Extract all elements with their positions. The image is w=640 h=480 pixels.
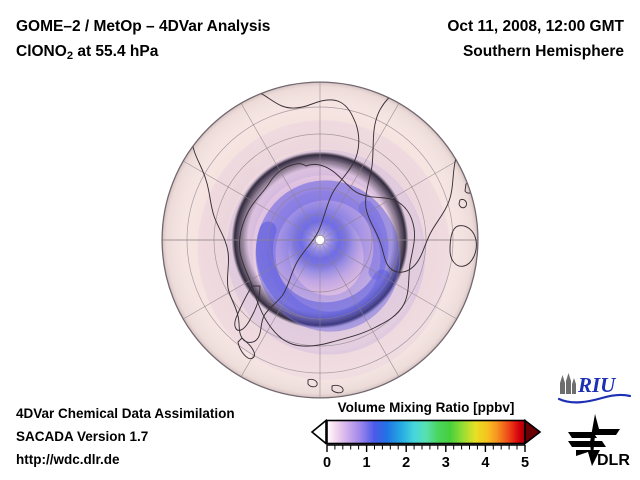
colorbar-title: Volume Mixing Ratio [ppbv] xyxy=(310,400,542,415)
coastline-scotia-islands xyxy=(202,367,223,380)
dlr-wordmark: DLR xyxy=(597,452,630,469)
dlr-logo: DLR xyxy=(562,412,632,470)
footer-left-block: 4DVar Chemical Data Assimilation SACADA … xyxy=(16,402,235,471)
header-left-block: GOME–2 / MetOp – 4DVar Analysis ClONO2 a… xyxy=(16,14,270,64)
pressure-level: at 55.4 hPa xyxy=(73,43,158,60)
colorbar-tick-label: 3 xyxy=(442,455,450,471)
species-level-label: ClONO2 at 55.4 hPa xyxy=(16,39,270,64)
colorbar-right-cap xyxy=(525,421,540,444)
colorbar-tick-label: 0 xyxy=(323,455,331,471)
footer-version-label: SACADA Version 1.7 xyxy=(16,425,235,448)
colorbar-tick-labels: 0 1 2 3 4 5 xyxy=(323,455,529,471)
coastline-south-georgia xyxy=(230,375,239,383)
south-pole-marker xyxy=(315,235,324,244)
colorbar-tick-label: 5 xyxy=(521,455,529,471)
colorbar-left-cap xyxy=(312,421,326,444)
colorbar-ticks xyxy=(327,445,525,452)
orthographic-globe xyxy=(160,80,480,400)
colorbar-gradient xyxy=(327,421,525,444)
datetime-label: Oct 11, 2008, 12:00 GMT xyxy=(447,14,624,39)
colorbar-tick-label: 4 xyxy=(481,455,489,471)
header-right-block: Oct 11, 2008, 12:00 GMT Southern Hemisph… xyxy=(447,14,624,64)
footer-assimilation-label: 4DVar Chemical Data Assimilation xyxy=(16,402,235,425)
riu-wordmark: RIU xyxy=(577,373,617,397)
region-label: Southern Hemisphere xyxy=(447,39,624,64)
riu-tower-icon xyxy=(560,373,576,394)
riu-logo: RIU xyxy=(556,372,632,406)
colorbar-tick-label: 1 xyxy=(363,455,371,471)
footer-url-link[interactable]: http://wdc.dlr.de xyxy=(16,448,235,471)
colorbar: 0 1 2 3 4 5 xyxy=(310,419,542,477)
field-layer xyxy=(162,81,478,398)
page-title: GOME–2 / MetOp – 4DVar Analysis xyxy=(16,14,270,39)
globe-map-panel xyxy=(160,80,480,400)
species-name: ClONO xyxy=(16,43,67,60)
colorbar-tick-label: 2 xyxy=(402,455,410,471)
colorbar-block: Volume Mixing Ratio [ppbv] xyxy=(310,400,542,477)
